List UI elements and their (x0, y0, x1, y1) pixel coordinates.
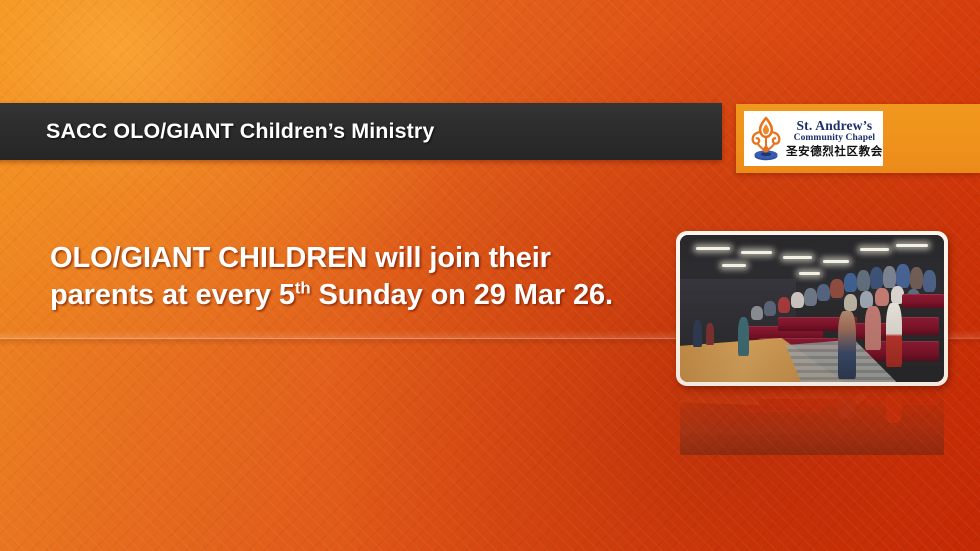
logo-line-st-andrews: St. Andrew’s (796, 119, 872, 133)
body-line-2-b: Sunday on 29 Mar 26. (311, 279, 614, 311)
slide-photo (676, 231, 948, 386)
logo-panel: St. Andrew’s Community Chapel 圣安德烈社区教会 (736, 104, 980, 173)
slide-title-bar: SACC OLO/GIANT Children’s Ministry (0, 103, 722, 160)
auditorium-photo (680, 235, 944, 382)
presentation-slide: SACC OLO/GIANT Children’s Ministry (0, 0, 980, 551)
body-line-1: OLO/GIANT CHILDREN will join their (50, 242, 551, 274)
logo-line3-text: 圣安德烈社区教会 (786, 144, 883, 158)
logo-line-chinese: 圣安德烈社区教会 (786, 146, 883, 158)
photo-overlay (680, 235, 944, 382)
body-ordinal-suffix: th (295, 278, 311, 297)
photo-reflection (680, 385, 944, 455)
logo-line1-text: St. Andrew’s (796, 118, 872, 133)
photo-frame (676, 231, 948, 386)
flame-lamp-icon (747, 115, 785, 163)
body-line-2-a: parents at every 5 (50, 279, 295, 311)
church-logo: St. Andrew’s Community Chapel 圣安德烈社区教会 (744, 111, 883, 166)
slide-body-text: OLO/GIANT CHILDREN will join their paren… (50, 240, 670, 314)
logo-line2-text: Community Chapel (794, 133, 876, 143)
auditorium-photo-reflection (680, 385, 944, 455)
logo-line-community-chapel: Community Chapel (794, 134, 876, 144)
logo-wordmark: St. Andrew’s Community Chapel 圣安德烈社区教会 (786, 119, 883, 158)
page-title: SACC OLO/GIANT Children’s Ministry (46, 119, 434, 144)
